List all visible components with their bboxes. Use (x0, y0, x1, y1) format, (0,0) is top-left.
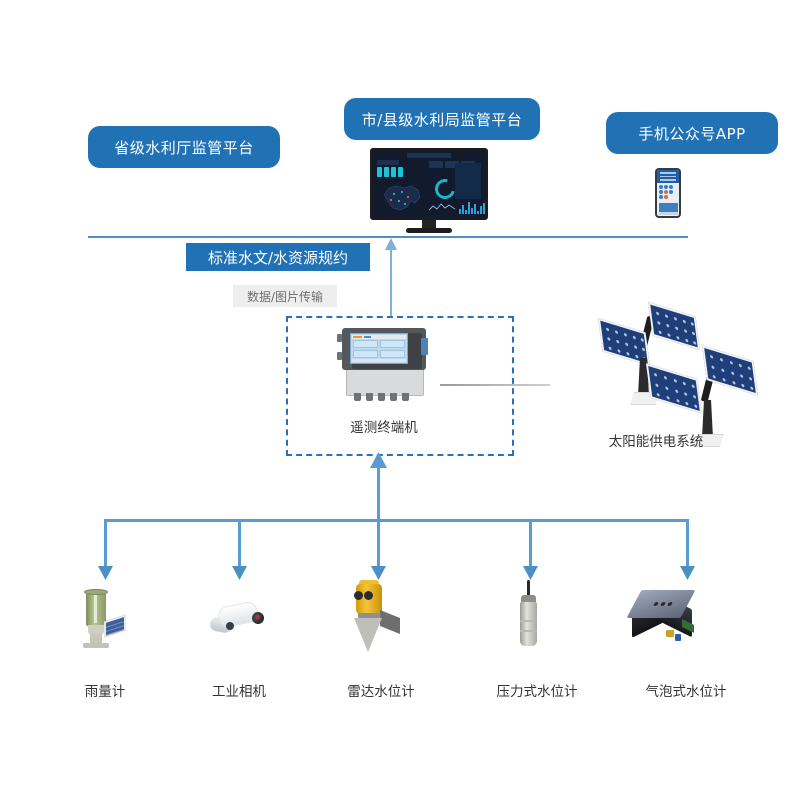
rtu-lcd-screen (350, 333, 408, 364)
rtu-caption: 遥测终端机 (336, 416, 432, 436)
sensor-caption-industrial-camera: 工业相机 (199, 680, 279, 700)
solar-power-illustration (586, 300, 766, 440)
rtu-device-illustration (336, 326, 432, 400)
phone-app-header (657, 170, 679, 183)
sensor-rain-gauge[interactable] (72, 586, 138, 652)
riser-line-to-rtu (377, 460, 380, 520)
rtu-hinge-top (337, 334, 342, 342)
sensor-radar-level-gauge[interactable] (340, 578, 416, 658)
protocol-label-box: 标准水文/水资源规约 (186, 243, 370, 271)
radar-horn-antenna (354, 618, 382, 652)
bubbler-blue-connector (675, 634, 681, 641)
monitor-bezel (370, 148, 488, 220)
dashboard-title-bar (407, 153, 452, 158)
node-provincial-platform[interactable]: 省级水利厅监管平台 (88, 126, 280, 168)
rtu-lcd-titlebar (352, 335, 406, 339)
rtu-lcd-statusbar (352, 359, 406, 363)
node-mobile-app-label: 手机公众号APP (638, 123, 745, 144)
sensor-industrial-camera[interactable] (206, 600, 272, 650)
monitor-stand (406, 228, 452, 233)
rtu-lcd-panels (353, 340, 405, 358)
node-city-county-platform[interactable]: 市/县级水利局监管平台 (344, 98, 540, 140)
camera-bracket-hole (226, 622, 234, 630)
node-city-county-platform-label: 市/县级水利局监管平台 (362, 109, 523, 130)
drop-line-camera (238, 519, 241, 569)
sensor-label-4: 气泡式水位计 (646, 684, 727, 700)
dashboard-line-chart (429, 200, 455, 214)
rtu-caption-text: 遥测终端机 (350, 420, 418, 436)
rain-gauge-rim (84, 589, 108, 595)
drop-line-pressure (529, 519, 532, 569)
solar-caption: 太阳能供电系统 (588, 430, 724, 450)
solar-panel-2a (646, 363, 702, 413)
rtu-cable-glands (354, 393, 409, 401)
rtu-hinge-bottom (337, 352, 342, 360)
transmission-label-text: 数据/图片传输 (247, 288, 323, 305)
sensor-label-3: 压力式水位计 (497, 684, 578, 700)
top-network-bus-line (88, 236, 688, 238)
drop-line-bubbler (686, 519, 689, 569)
smartphone-illustration (655, 168, 681, 218)
bubbler-brass-connector (666, 630, 674, 637)
rain-gauge-tube (94, 595, 97, 623)
dashboard-bar-chart (459, 200, 485, 214)
pressure-gauge-ring-2 (520, 630, 537, 632)
sensor-label-0: 雨量计 (85, 684, 126, 700)
phone-app-icon-grid (659, 185, 678, 199)
phone-screen (657, 170, 679, 216)
china-map-icon (378, 181, 424, 214)
sensor-caption-pressure-level-gauge: 压力式水位计 (485, 680, 589, 700)
phone-footer (659, 212, 678, 215)
riser-line-to-top-bus (390, 242, 392, 316)
bubbler-led-row (653, 602, 673, 606)
node-mobile-app[interactable]: 手机公众号APP (606, 112, 778, 154)
pressure-gauge-body (520, 602, 537, 646)
camera-lens (251, 611, 265, 625)
monitor-screen (373, 151, 485, 217)
sensor-bus-line (104, 519, 688, 522)
rtu-connector-port (421, 338, 428, 355)
desktop-monitor-illustration (370, 148, 488, 234)
sensor-caption-radar-level-gauge: 雷达水位计 (336, 680, 426, 700)
rain-gauge-foot (83, 643, 109, 648)
phone-banner (659, 203, 678, 212)
sensor-label-2: 雷达水位计 (347, 684, 415, 700)
sensor-caption-bubbler-level-gauge: 气泡式水位计 (634, 680, 738, 700)
dashboard-ranking-panel (455, 163, 481, 199)
sensor-bubbler-level-gauge[interactable] (626, 586, 706, 652)
radar-mounting-plate (380, 610, 400, 634)
rain-gauge-solar-panel (104, 614, 126, 637)
diagram-canvas: 省级水利厅监管平台 市/县级水利局监管平台 手机公众号APP (0, 0, 800, 800)
drop-line-radar (377, 519, 380, 569)
sensor-caption-rain-gauge: 雨量计 (65, 680, 145, 700)
dashboard-kpi-cards (377, 167, 403, 177)
radar-eye-left (354, 591, 363, 600)
dashboard-tab-chip (377, 160, 399, 165)
solar-caption-text: 太阳能供电系统 (609, 434, 704, 450)
sensor-label-1: 工业相机 (212, 684, 266, 700)
pressure-gauge-ring-1 (520, 620, 537, 622)
solar-panel-1b (648, 302, 700, 350)
sensor-pressure-level-gauge[interactable] (500, 580, 560, 656)
protocol-label-text: 标准水文/水资源规约 (208, 247, 348, 268)
node-provincial-platform-label: 省级水利厅监管平台 (114, 137, 254, 158)
rtu-antenna-rod (440, 384, 550, 386)
drop-line-rain-gauge (104, 519, 107, 569)
transmission-label-box: 数据/图片传输 (233, 285, 337, 307)
radar-eye-right (364, 591, 373, 600)
